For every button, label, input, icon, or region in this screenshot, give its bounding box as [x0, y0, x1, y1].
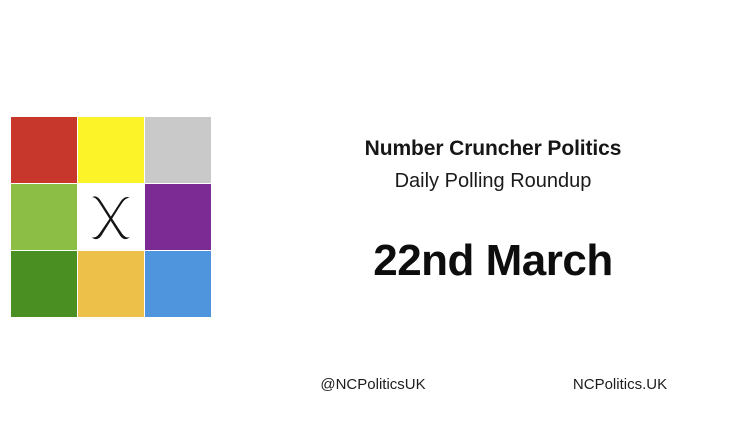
page-subtitle: Daily Polling Roundup	[260, 168, 726, 194]
footer-website: NCPolitics.UK	[520, 376, 720, 393]
slide-canvas: Number Cruncher Politics Daily Polling R…	[0, 0, 730, 430]
logo-cell-light-green	[11, 184, 77, 250]
logo-cell-purple	[145, 184, 211, 250]
page-title: Number Cruncher Politics	[260, 136, 726, 162]
ballot-grid-logo	[11, 117, 211, 317]
logo-cell-dark-green	[11, 251, 77, 317]
logo-cell-amber	[78, 251, 144, 317]
logo-cell-blue	[145, 251, 211, 317]
logo-cell-yellow	[78, 117, 144, 183]
x-mark-icon	[85, 191, 137, 243]
logo-cell-red	[11, 117, 77, 183]
logo-cell-grey	[145, 117, 211, 183]
logo-cell-white-cross	[78, 184, 144, 250]
footer-social-handle: @NCPoliticsUK	[268, 376, 478, 393]
date-label: 22nd March	[260, 235, 726, 287]
